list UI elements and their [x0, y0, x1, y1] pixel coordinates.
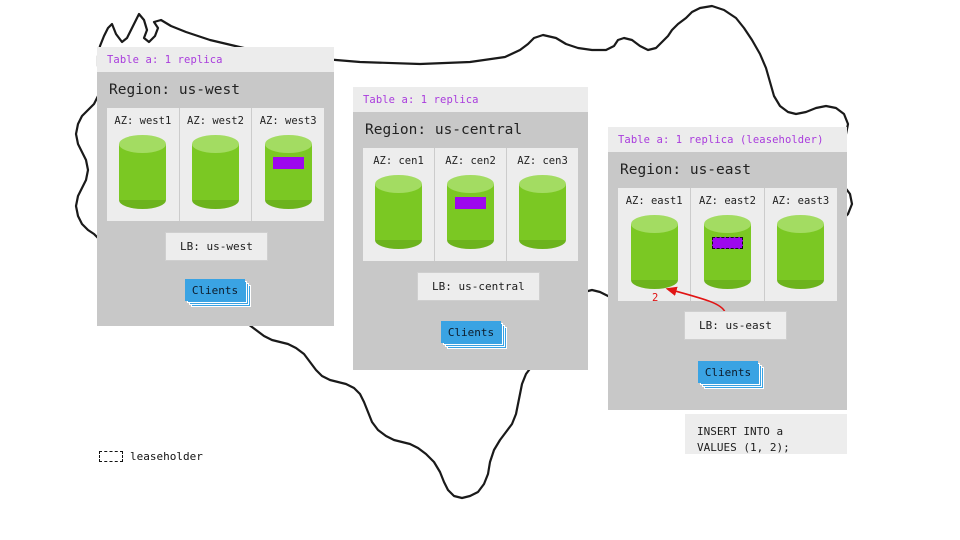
region-panel-us-west: Table a: 1 replica Region: us-west AZ: w…: [97, 47, 334, 326]
node-cylinder-east2[interactable]: [704, 215, 751, 287]
replica-block-leaseholder-east2: [712, 237, 743, 249]
region-header-us-west: Table a: 1 replica: [97, 47, 334, 72]
arrow-step-label-2: 2: [652, 292, 658, 304]
cylinder-top: [704, 215, 751, 233]
sql-statement-box: INSERT INTO a VALUES (1, 2);: [685, 414, 847, 454]
az-row-us-east: AZ: east1 AZ: east2: [618, 188, 837, 301]
node-cylinder-west1[interactable]: [119, 135, 166, 207]
replica-block-west3: [273, 157, 304, 169]
node-cylinder-west2[interactable]: [192, 135, 239, 207]
load-balancer-us-west[interactable]: LB: us-west: [165, 232, 268, 261]
az-label-east1: AZ: east1: [626, 195, 683, 207]
az-row-us-west: AZ: west1 AZ: west2 AZ: [107, 108, 324, 221]
az-label-west3: AZ: west3: [260, 115, 317, 127]
clients-stack-us-west[interactable]: Clients: [185, 279, 249, 303]
az-label-cen3: AZ: cen3: [517, 155, 568, 167]
az-cell-east3[interactable]: AZ: east3: [765, 188, 837, 301]
az-label-west2: AZ: west2: [187, 115, 244, 127]
clients-stack-us-central[interactable]: Clients: [441, 321, 505, 345]
clients-stack-us-east[interactable]: Clients: [698, 361, 762, 385]
region-header-us-east: Table a: 1 replica (leaseholder): [608, 127, 847, 152]
az-cell-cen2[interactable]: AZ: cen2: [435, 148, 507, 261]
region-title-us-west: Region: us-west: [107, 72, 324, 108]
cylinder-top: [265, 135, 312, 153]
leaseholder-swatch-icon: [99, 451, 123, 462]
az-cell-cen3[interactable]: AZ: cen3: [507, 148, 578, 261]
node-cylinder-cen1[interactable]: [375, 175, 422, 247]
region-title-us-east: Region: us-east: [618, 152, 837, 188]
cylinder-top: [119, 135, 166, 153]
node-cylinder-east1[interactable]: [631, 215, 678, 287]
az-cell-west2[interactable]: AZ: west2: [180, 108, 253, 221]
cylinder-top: [777, 215, 824, 233]
node-cylinder-cen2[interactable]: [447, 175, 494, 247]
node-cylinder-west3[interactable]: [265, 135, 312, 207]
cylinder-top: [375, 175, 422, 193]
az-label-west1: AZ: west1: [114, 115, 171, 127]
az-label-east2: AZ: east2: [699, 195, 756, 207]
az-cell-west3[interactable]: AZ: west3: [252, 108, 324, 221]
az-label-east3: AZ: east3: [772, 195, 829, 207]
az-label-cen1: AZ: cen1: [373, 155, 424, 167]
cylinder-top: [192, 135, 239, 153]
cylinder-top: [447, 175, 494, 193]
az-cell-west1[interactable]: AZ: west1: [107, 108, 180, 221]
az-cell-east1[interactable]: AZ: east1: [618, 188, 691, 301]
clients-button-us-west[interactable]: Clients: [185, 279, 245, 301]
clients-button-us-east[interactable]: Clients: [698, 361, 758, 383]
az-label-cen2: AZ: cen2: [445, 155, 496, 167]
diagram-canvas: Table a: 1 replica Region: us-west AZ: w…: [0, 0, 960, 540]
region-title-us-central: Region: us-central: [363, 112, 578, 148]
clients-button-us-central[interactable]: Clients: [441, 321, 501, 343]
az-row-us-central: AZ: cen1 AZ: cen2: [363, 148, 578, 261]
legend-leaseholder: leaseholder: [99, 450, 203, 463]
cylinder-top: [631, 215, 678, 233]
replica-block-cen2: [455, 197, 486, 209]
az-cell-cen1[interactable]: AZ: cen1: [363, 148, 435, 261]
az-cell-east2[interactable]: AZ: east2: [691, 188, 764, 301]
load-balancer-us-east[interactable]: LB: us-east: [684, 311, 787, 340]
node-cylinder-cen3[interactable]: [519, 175, 566, 247]
node-cylinder-east3[interactable]: [777, 215, 824, 287]
region-panel-us-central: Table a: 1 replica Region: us-central AZ…: [353, 87, 588, 370]
legend-label: leaseholder: [130, 450, 203, 463]
region-panel-us-east: Table a: 1 replica (leaseholder) Region:…: [608, 127, 847, 410]
region-header-us-central: Table a: 1 replica: [353, 87, 588, 112]
load-balancer-us-central[interactable]: LB: us-central: [417, 272, 540, 301]
cylinder-top: [519, 175, 566, 193]
